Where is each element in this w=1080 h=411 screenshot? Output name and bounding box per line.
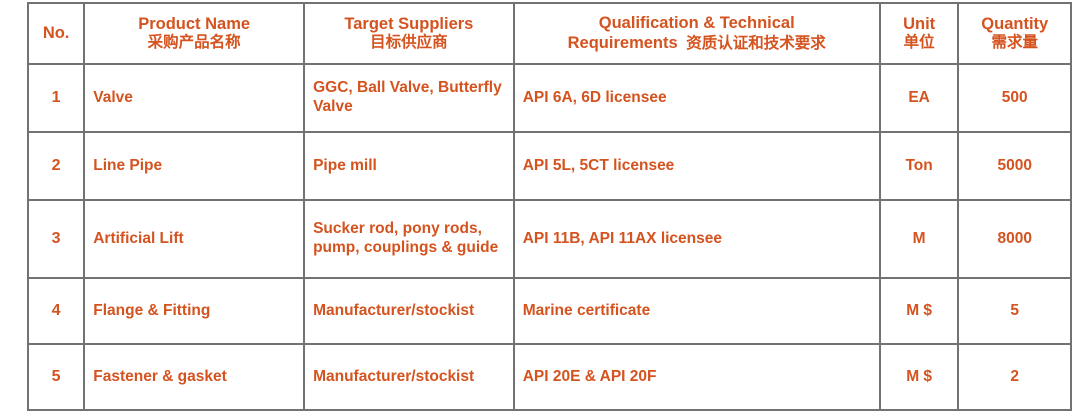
table-row: 1 Valve GGC, Ball Valve, Butterfly Valve… <box>28 64 1071 132</box>
cell-product-name: Artificial Lift <box>84 200 304 278</box>
table-body: 1 Valve GGC, Ball Valve, Butterfly Valve… <box>28 64 1071 410</box>
cell-product-name: Fastener & gasket <box>84 344 304 410</box>
cell-qualification: API 5L, 5CT licensee <box>514 132 880 200</box>
column-header-quantity-zh: 需求量 <box>967 34 1062 53</box>
column-header-qualification: Qualification & Technical Requirements 资… <box>514 3 880 64</box>
column-header-product-name-en: Product Name <box>93 14 295 34</box>
cell-no: 3 <box>28 200 84 278</box>
cell-no: 4 <box>28 278 84 344</box>
cell-product-name: Line Pipe <box>84 132 304 200</box>
column-header-unit-zh: 单位 <box>889 34 950 53</box>
table-row: 4 Flange & Fitting Manufacturer/stockist… <box>28 278 1071 344</box>
cell-product-name: Flange & Fitting <box>84 278 304 344</box>
cell-supplier: GGC, Ball Valve, Butterfly Valve <box>304 64 514 132</box>
column-header-target-suppliers-en: Target Suppliers <box>313 14 505 34</box>
procurement-table: No. Product Name 采购产品名称 Target Suppliers… <box>27 2 1072 411</box>
cell-product-name: Valve <box>84 64 304 132</box>
column-header-no-en: No. <box>37 25 75 42</box>
cell-unit: M <box>880 200 959 278</box>
column-header-no: No. <box>28 3 84 64</box>
cell-unit: EA <box>880 64 959 132</box>
column-header-qualification-en-line1: Qualification & Technical <box>523 13 871 33</box>
cell-quantity: 500 <box>958 64 1071 132</box>
cell-qualification: Marine certificate <box>514 278 880 344</box>
cell-no: 2 <box>28 132 84 200</box>
cell-quantity: 5 <box>958 278 1071 344</box>
cell-supplier: Pipe mill <box>304 132 514 200</box>
cell-unit: Ton <box>880 132 959 200</box>
cell-qualification: API 11B, API 11AX licensee <box>514 200 880 278</box>
column-header-qualification-en-line2: Requirements <box>568 34 678 52</box>
column-header-target-suppliers: Target Suppliers 目标供应商 <box>304 3 514 64</box>
column-header-product-name-zh: 采购产品名称 <box>93 34 295 53</box>
header-row: No. Product Name 采购产品名称 Target Suppliers… <box>28 3 1071 64</box>
column-header-quantity: Quantity 需求量 <box>958 3 1071 64</box>
cell-unit: M $ <box>880 344 959 410</box>
column-header-target-suppliers-zh: 目标供应商 <box>313 34 505 53</box>
cell-quantity: 8000 <box>958 200 1071 278</box>
table-row: 5 Fastener & gasket Manufacturer/stockis… <box>28 344 1071 410</box>
cell-supplier: Manufacturer/stockist <box>304 278 514 344</box>
column-header-product-name: Product Name 采购产品名称 <box>84 3 304 64</box>
column-header-unit-en: Unit <box>889 14 950 34</box>
column-header-qualification-line2: Requirements 资质认证和技术要求 <box>523 33 871 54</box>
cell-qualification: API 20E & API 20F <box>514 344 880 410</box>
column-header-unit: Unit 单位 <box>880 3 959 64</box>
table-row: 2 Line Pipe Pipe mill API 5L, 5CT licens… <box>28 132 1071 200</box>
cell-no: 5 <box>28 344 84 410</box>
cell-supplier: Manufacturer/stockist <box>304 344 514 410</box>
cell-no: 1 <box>28 64 84 132</box>
cell-unit: M $ <box>880 278 959 344</box>
table-header: No. Product Name 采购产品名称 Target Suppliers… <box>28 3 1071 64</box>
cell-quantity: 2 <box>958 344 1071 410</box>
cell-supplier: Sucker rod, pony rods, pump, couplings &… <box>304 200 514 278</box>
table-row: 3 Artificial Lift Sucker rod, pony rods,… <box>28 200 1071 278</box>
cell-qualification: API 6A, 6D licensee <box>514 64 880 132</box>
column-header-quantity-en: Quantity <box>967 14 1062 34</box>
cell-quantity: 5000 <box>958 132 1071 200</box>
spreadsheet-canvas: No. Product Name 采购产品名称 Target Suppliers… <box>0 0 1080 402</box>
column-header-qualification-zh: 资质认证和技术要求 <box>678 35 826 52</box>
